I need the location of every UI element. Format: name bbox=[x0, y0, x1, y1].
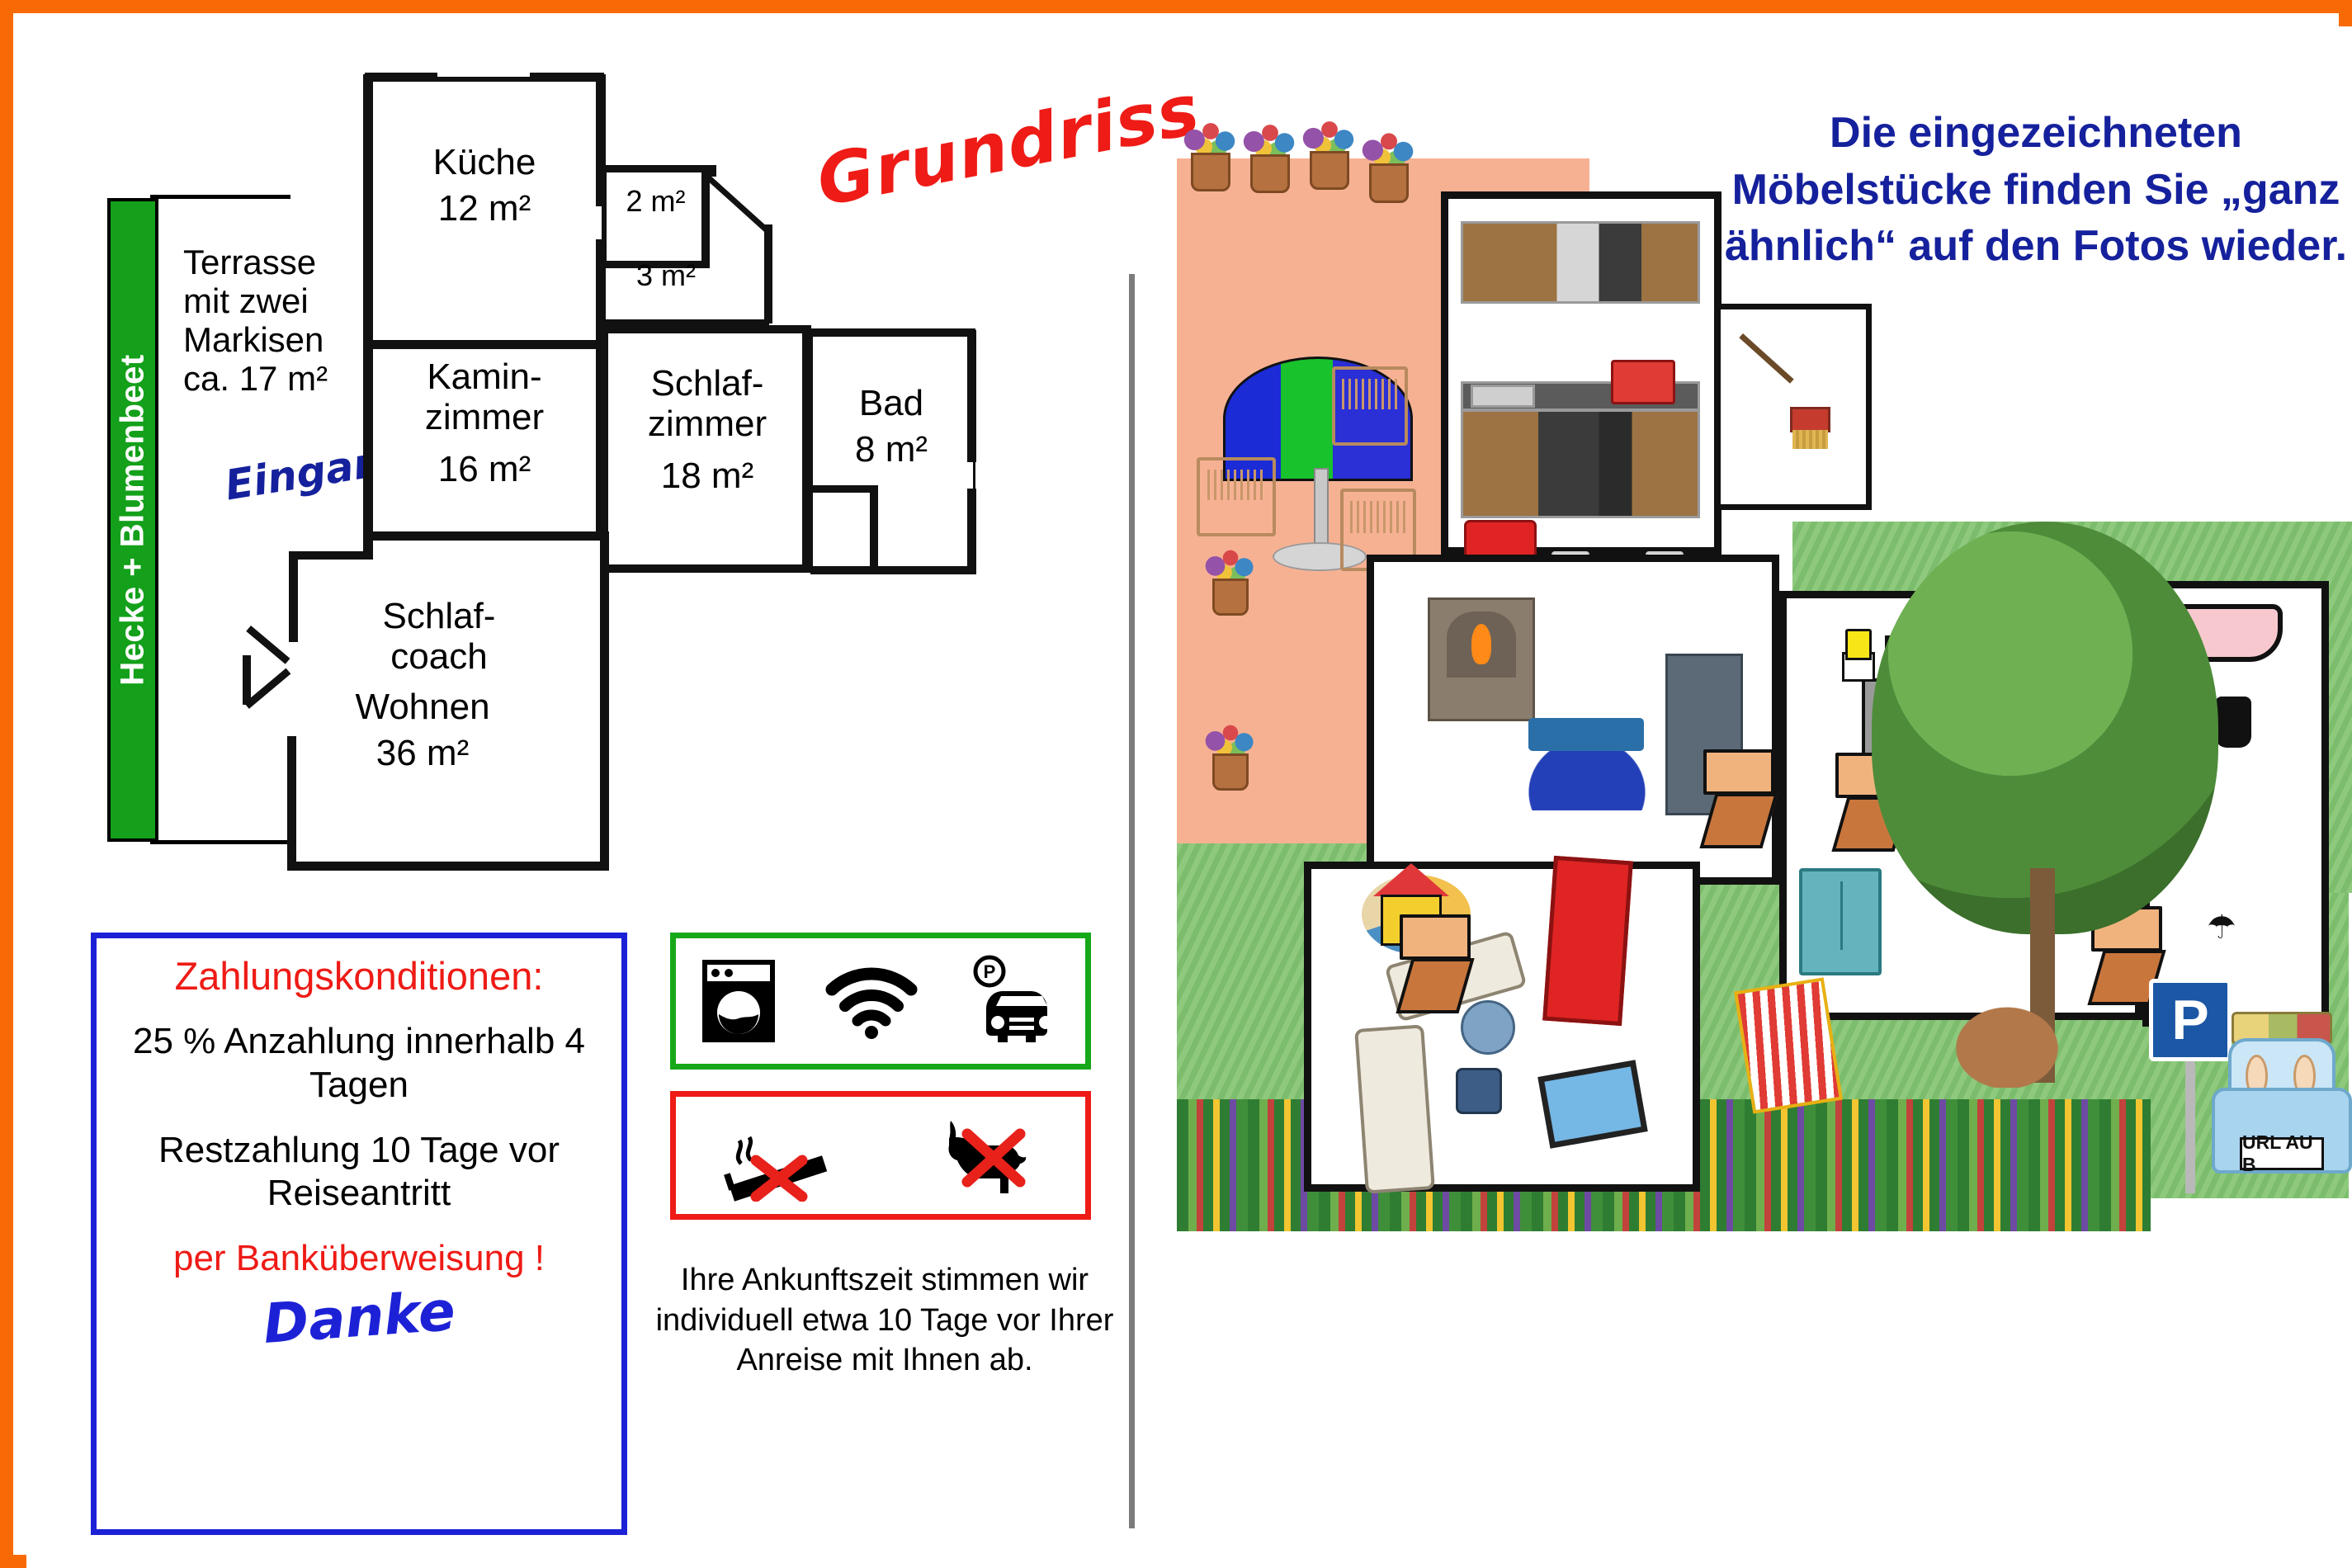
terrace-label: Terrasse mit zwei Markisen ca. 17 m² bbox=[183, 243, 373, 398]
room-area-schlafzimmer: 18 m² bbox=[604, 456, 810, 496]
window-kueche bbox=[437, 73, 530, 77]
room-schlafzimmer-walls bbox=[606, 325, 810, 573]
flower-pot-4 bbox=[1360, 127, 1418, 203]
red-wardrobe bbox=[1542, 856, 1633, 1026]
payment-line-1: 25 % Anzahlung innerhalb 4 Tagen bbox=[97, 1020, 621, 1108]
family-car: URL AU B bbox=[2212, 1022, 2352, 1187]
wall-kamin-bottom bbox=[365, 531, 604, 541]
stool bbox=[1456, 1068, 1502, 1114]
wall-bad-step-vert bbox=[870, 485, 878, 574]
deck-chair bbox=[1734, 977, 1843, 1113]
door-3 bbox=[1400, 914, 1471, 1013]
svg-text:P: P bbox=[983, 961, 995, 982]
room-label-kaminzimmer: Kamin- zimmer bbox=[352, 357, 616, 438]
terrace-top-tick bbox=[150, 195, 290, 199]
wall-bad-top bbox=[810, 328, 975, 337]
flower-pot-1 bbox=[1182, 117, 1240, 191]
room-area-kueche: 12 m² bbox=[352, 188, 616, 229]
bedside-lamp bbox=[1845, 629, 1872, 660]
room-area-3qm: 3 m² bbox=[588, 259, 744, 292]
wall-wohnen-right bbox=[600, 531, 609, 870]
terrace-chair-1 bbox=[1197, 457, 1276, 536]
flower-pot-3 bbox=[1301, 116, 1358, 190]
orange-page-frame: Hecke + Blumenbeet Terrasse mit zwei Mar… bbox=[0, 0, 2352, 1568]
room-label-kueche: Küche bbox=[352, 142, 616, 182]
wall-bad-bottom bbox=[810, 566, 975, 574]
wall-3qm-diagonal bbox=[706, 175, 768, 232]
wall-bad-right-upper bbox=[967, 330, 976, 462]
payment-line-2: Restzahlung 10 Tage vor Reiseantritt bbox=[97, 1129, 621, 1216]
room-area-bad: 8 m² bbox=[817, 429, 966, 470]
wall-wohnen-left-1 bbox=[289, 551, 298, 642]
wall-2qm-top bbox=[604, 165, 710, 172]
wall-wohnen-left-3 bbox=[287, 736, 296, 868]
sofa-2 bbox=[1354, 1024, 1435, 1193]
shopping-basket bbox=[1611, 360, 1675, 404]
room-label-bad: Bad bbox=[817, 383, 966, 423]
broom-icon bbox=[1743, 333, 1830, 432]
wall-wohnen-bevel-2 bbox=[244, 668, 290, 709]
hedge-flowerbed-bar: Hecke + Blumenbeet bbox=[107, 198, 158, 842]
kitchen-upper-cabinets bbox=[1461, 221, 1700, 304]
terrace-bottom-tick bbox=[150, 840, 290, 844]
no-smoking-icon bbox=[716, 1109, 840, 1202]
dining-bench bbox=[1528, 718, 1644, 751]
flower-pot-6 bbox=[1203, 720, 1258, 791]
washing-machine-icon bbox=[699, 956, 778, 1046]
wall-wohnen-top-left bbox=[289, 551, 373, 560]
flower-pot-2 bbox=[1241, 119, 1299, 193]
room-label-wohnen: Wohnen bbox=[299, 687, 546, 727]
page-canvas: Hecke + Blumenbeet Terrasse mit zwei Mar… bbox=[26, 26, 2352, 1568]
payment-title: Zahlungskonditionen: bbox=[175, 953, 544, 999]
car-license-plate: URL AU B bbox=[2240, 1137, 2324, 1170]
no-dogs-icon bbox=[921, 1109, 1045, 1202]
room-area-2qm: 2 m² bbox=[604, 185, 707, 218]
room-label-schlafzimmer: Schlaf- zimmer bbox=[604, 363, 810, 445]
room-area-kaminzimmer: 16 m² bbox=[352, 449, 616, 489]
wall-schlaf-bottom bbox=[606, 564, 812, 573]
payment-conditions-box: Zahlungskonditionen: 25 % Anzahlung inne… bbox=[91, 933, 627, 1535]
amenities-box: P bbox=[670, 933, 1091, 1070]
room-area-wohnen: 36 m² bbox=[299, 733, 546, 773]
shower-icon: ☂ bbox=[2207, 911, 2236, 944]
wall-wohnen-bottom bbox=[287, 862, 609, 871]
wall-wohnen-bevel-1 bbox=[246, 626, 290, 664]
panel-divider bbox=[1129, 274, 1135, 1528]
wall-3qm-right bbox=[764, 224, 772, 324]
wall-schlaf-top bbox=[604, 325, 810, 333]
wall-bad-step bbox=[810, 485, 876, 493]
thanks-note: Danke bbox=[261, 1279, 456, 1356]
fireplace bbox=[1428, 597, 1535, 721]
hedge-label: Hecke + Blumenbeet bbox=[115, 354, 152, 685]
restrictions-box bbox=[670, 1091, 1091, 1220]
terrace-chair-2 bbox=[1332, 366, 1408, 446]
parking-car-icon: P bbox=[965, 955, 1062, 1047]
furniture-note: Die eingezeichneten Möbelstücke finden S… bbox=[1722, 105, 2350, 275]
payment-line-3: per Banküberweisung ! bbox=[173, 1237, 545, 1281]
wifi-icon bbox=[825, 961, 918, 1041]
bedroom-wardrobe bbox=[1799, 868, 1882, 975]
wall-bad-right-lower bbox=[967, 489, 976, 574]
watering-can-group bbox=[1933, 989, 2081, 1088]
toilet bbox=[2215, 697, 2251, 748]
parking-sign-pole bbox=[2185, 1061, 2195, 1193]
room-label-schlafcoach: Schlaf- coach bbox=[315, 596, 563, 678]
arrival-time-note: Ihre Ankunftszeit stimmen wir individuel… bbox=[654, 1260, 1116, 1381]
door-1 bbox=[1703, 749, 1774, 848]
kitchen-sink bbox=[1471, 385, 1535, 408]
kitchen-base-cabinets bbox=[1461, 409, 1700, 518]
